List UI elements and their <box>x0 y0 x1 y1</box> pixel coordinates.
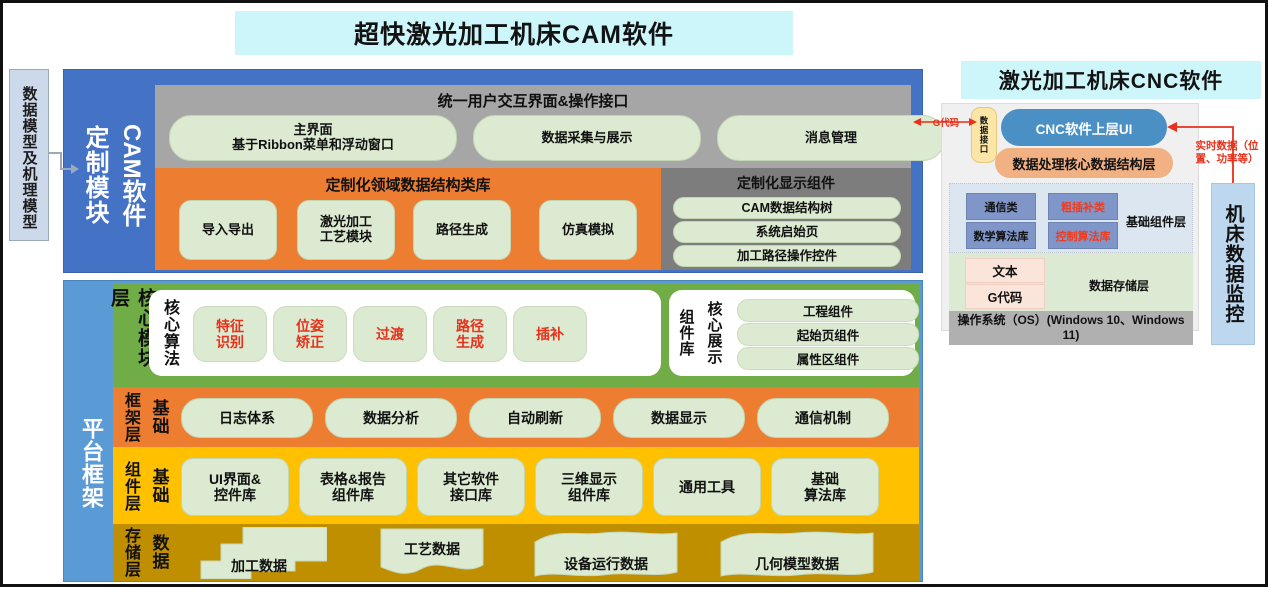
component-layer-name: 组件层 <box>118 461 142 512</box>
data-interface-box[interactable]: 数据接口 <box>971 107 997 163</box>
ds-item-simulation[interactable]: 仿真模拟 <box>539 200 637 260</box>
core-algo-feature-line1: 特征 <box>216 318 244 334</box>
component-library-label: 组件库 <box>676 309 697 357</box>
core-algo-pose-line2: 矫正 <box>296 334 324 350</box>
core-algo-path-line2: 生成 <box>456 334 484 350</box>
cp-item-base-algorithm-lib[interactable]: 基础 算法库 <box>771 458 879 516</box>
core-module-layer: 核心模块层 核心算法 特征 识别 位姿 矫正 过渡 <box>113 284 919 387</box>
ds-item-import-export[interactable]: 导入导出 <box>179 200 277 260</box>
framework-layer-name: 框架层 <box>118 392 142 443</box>
data-model-column: 数据模型及机理模型 <box>9 69 49 241</box>
cp-item-general-tools[interactable]: 通用工具 <box>653 458 761 516</box>
cnc-software-title: 激光加工机床CNC软件 <box>961 61 1261 99</box>
ds-item-laser-process-line1: 激光加工 <box>320 215 372 230</box>
cnc-data-storage-layer: 文本 G代码 数据存储层 <box>949 253 1193 311</box>
cp-item-ui-line1: UI界面& <box>209 471 261 487</box>
custom-data-structure-title: 定制化领域数据结构类库 <box>155 173 661 195</box>
ds-item-laser-process-line2: 工艺模块 <box>320 230 372 245</box>
data-interface-label: 数据接口 <box>978 116 990 154</box>
core-algo-pose-correction[interactable]: 位姿 矫正 <box>273 306 347 362</box>
cp-item-base-algo-line1: 基础 <box>804 471 846 487</box>
core-display-label: 核心展示 <box>704 301 725 365</box>
cp-item-tools-line1: 通用工具 <box>679 479 735 495</box>
cnc-storage-layer-name: 数据存储层 <box>1089 277 1149 294</box>
data-model-label: 数据模型及机理模型 <box>19 86 40 230</box>
fw-item-auto-refresh[interactable]: 自动刷新 <box>469 398 601 438</box>
fw-item-data-analysis[interactable]: 数据分析 <box>325 398 457 438</box>
cnc-chip-text[interactable]: 文本 <box>965 258 1045 283</box>
ds-item-import-export-line1: 导入导出 <box>202 223 254 238</box>
storage-layer-name: 存储层 <box>118 527 142 578</box>
cnc-core-data-structure-box[interactable]: 数据处理核心数据结构层 <box>995 148 1173 178</box>
component-layer-tag: 组件层 <box>115 451 145 521</box>
cp-item-base-algo-line2: 算法库 <box>804 487 846 503</box>
cp-item-other-software-api[interactable]: 其它软件 接口库 <box>417 458 525 516</box>
framework-sub-label: 基础 <box>147 399 172 435</box>
cam-software-title: 超快激光加工机床CAM软件 <box>235 11 793 55</box>
core-algo-interpolation-line1: 插补 <box>536 326 564 342</box>
cp-item-3d-line1: 三维显示 <box>561 471 617 487</box>
cp-item-table-report-lib[interactable]: 表格&报告 组件库 <box>299 458 407 516</box>
fw-item-logging[interactable]: 日志体系 <box>181 398 313 438</box>
gcode-arrow-label: G代码 <box>923 115 969 129</box>
core-algo-path-generation[interactable]: 路径 生成 <box>433 306 507 362</box>
storage-sub-tag: 数据 <box>145 526 173 578</box>
display-component-title: 定制化显示组件 <box>661 172 911 194</box>
cp-item-table-line2: 组件库 <box>320 487 386 503</box>
ui-item-main-interface-line1: 主界面 <box>232 123 394 138</box>
ui-item-main-interface[interactable]: 主界面 基于Ribbon菜单和浮动窗口 <box>169 115 457 161</box>
cp-item-other-line1: 其它软件 <box>443 471 499 487</box>
cnc-base-component-layer: 通信类 粗插补类 数学算法库 控制算法库 基础组件层 <box>949 183 1193 253</box>
component-library-tag: 组件库 <box>673 297 699 369</box>
platform-vertical-label: 平台框架 <box>69 383 113 543</box>
cam-panel-vertical-labels: 定制模块 CAM软件 <box>77 99 149 251</box>
component-sub-tag: 基础 <box>145 451 173 521</box>
storage-item-geometry-data[interactable]: 几何模型数据 <box>717 530 877 578</box>
dc-item-cam-data-tree[interactable]: CAM数据结构树 <box>673 197 901 219</box>
comp-item-startup-page[interactable]: 起始页组件 <box>737 323 919 346</box>
storage-item-machining-data[interactable]: 加工数据 <box>191 527 327 579</box>
cam-label-cam-software: CAM软件 <box>114 124 149 227</box>
component-layer: 组件层 基础 UI界面& 控件库 表格&报告 组件库 其它软件 接口库 三维显 <box>113 447 919 524</box>
unified-ui-band-title: 统一用户交互界面&操作接口 <box>155 89 911 111</box>
core-algo-feature-line2: 识别 <box>216 334 244 350</box>
storage-item-equipment-data-label: 设备运行数据 <box>531 554 681 574</box>
core-algo-transition[interactable]: 过渡 <box>353 306 427 362</box>
ds-item-path-generation-line1: 路径生成 <box>436 223 488 238</box>
dc-item-toolpath-control[interactable]: 加工路径操作控件 <box>673 245 901 267</box>
storage-item-machining-data-label: 加工数据 <box>191 556 327 576</box>
cam-label-custom-module: 定制模块 <box>77 125 112 225</box>
component-library-card: 组件库 核心展示 工程组件 起始页组件 属性区组件 <box>669 290 915 376</box>
component-sub-label: 基础 <box>147 468 172 504</box>
cp-item-3d-display-lib[interactable]: 三维显示 组件库 <box>535 458 643 516</box>
cnc-base-layer-name: 基础组件层 <box>1126 213 1186 230</box>
storage-item-process-data-label: 工艺数据 <box>379 539 485 559</box>
cnc-operating-system-bar: 操作系统（OS）(Windows 10、Windows 11) <box>949 311 1193 345</box>
dc-item-startup-page[interactable]: 系统启始页 <box>673 221 901 243</box>
cp-item-3d-line2: 组件库 <box>561 487 617 503</box>
core-algo-transition-line1: 过渡 <box>376 326 404 342</box>
core-algo-pose-line1: 位姿 <box>296 318 324 334</box>
framework-layer: 框架层 基础 日志体系 数据分析 自动刷新 数据显示 通信机制 <box>113 387 919 447</box>
cp-item-table-line1: 表格&报告 <box>320 471 386 487</box>
core-algo-interpolation[interactable]: 插补 <box>513 306 587 362</box>
core-module-layer-tag: 核心模块层 <box>117 288 147 383</box>
cp-item-ui-line2: 控件库 <box>209 487 261 503</box>
core-algorithm-tag: 核心算法 <box>155 297 183 369</box>
cp-item-other-line2: 接口库 <box>443 487 499 503</box>
ds-item-simulation-line1: 仿真模拟 <box>562 223 614 238</box>
ds-item-path-generation[interactable]: 路径生成 <box>413 200 511 260</box>
cnc-chip-control-algorithm-lib[interactable]: 控制算法库 <box>1048 222 1118 249</box>
platform-label-text: 平台框架 <box>75 417 107 509</box>
diagram-canvas: 超快激光加工机床CAM软件 激光加工机床CNC软件 数据模型及机理模型 定制模块… <box>0 0 1268 587</box>
fw-item-data-display[interactable]: 数据显示 <box>613 398 745 438</box>
storage-item-equipment-data[interactable]: 设备运行数据 <box>531 530 681 578</box>
core-algo-path-line1: 路径 <box>456 318 484 334</box>
comp-item-property-area[interactable]: 属性区组件 <box>737 347 919 370</box>
ui-item-data-acquisition[interactable]: 数据采集与展示 <box>473 115 701 161</box>
display-component-band: 定制化显示组件 CAM数据结构树 系统启始页 加工路径操作控件 <box>661 168 911 270</box>
core-algo-feature-recognition[interactable]: 特征 识别 <box>193 306 267 362</box>
core-display-tag: 核心展示 <box>701 297 727 369</box>
realtime-data-arrow-label: 实时数据（位置、功率等） <box>1194 129 1260 177</box>
storage-layer: 存储层 数据 加工数据 工艺数据 设备运行数据 <box>113 524 919 581</box>
cp-item-ui-control-lib[interactable]: UI界面& 控件库 <box>181 458 289 516</box>
machine-data-monitor-box[interactable]: 机床数据监控 <box>1211 183 1255 345</box>
cnc-chip-coarse-interpolation[interactable]: 粗插补类 <box>1048 193 1118 220</box>
core-algorithm-label: 核心算法 <box>157 299 181 367</box>
machine-data-monitor-label: 机床数据监控 <box>1220 204 1247 324</box>
ds-item-laser-process[interactable]: 激光加工 工艺模块 <box>297 200 395 260</box>
cnc-chip-gcode[interactable]: G代码 <box>965 284 1045 309</box>
storage-sub-label: 数据 <box>147 534 172 570</box>
comp-item-project[interactable]: 工程组件 <box>737 299 919 322</box>
ui-item-message-management[interactable]: 消息管理 <box>717 115 945 161</box>
core-algorithm-card: 核心算法 特征 识别 位姿 矫正 过渡 路 <box>149 290 661 376</box>
unified-ui-band: 统一用户交互界面&操作接口 主界面 基于Ribbon菜单和浮动窗口 数据采集与展… <box>155 85 911 168</box>
storage-item-process-data[interactable]: 工艺数据 <box>379 527 485 575</box>
ui-item-main-interface-line2: 基于Ribbon菜单和浮动窗口 <box>232 138 394 153</box>
framework-sub-tag: 基础 <box>145 389 173 445</box>
framework-layer-tag: 框架层 <box>115 389 145 445</box>
cnc-chip-math-algorithm-lib[interactable]: 数学算法库 <box>966 222 1036 249</box>
cnc-upper-ui-box[interactable]: CNC软件上层UI <box>1001 109 1167 146</box>
storage-layer-tag: 存储层 <box>115 526 145 578</box>
custom-data-structure-band: 定制化领域数据结构类库 导入导出 激光加工 工艺模块 路径生成 仿真模拟 <box>155 168 661 270</box>
cnc-chip-communication[interactable]: 通信类 <box>966 193 1036 220</box>
storage-item-geometry-data-label: 几何模型数据 <box>717 554 877 574</box>
fw-item-communication[interactable]: 通信机制 <box>757 398 889 438</box>
